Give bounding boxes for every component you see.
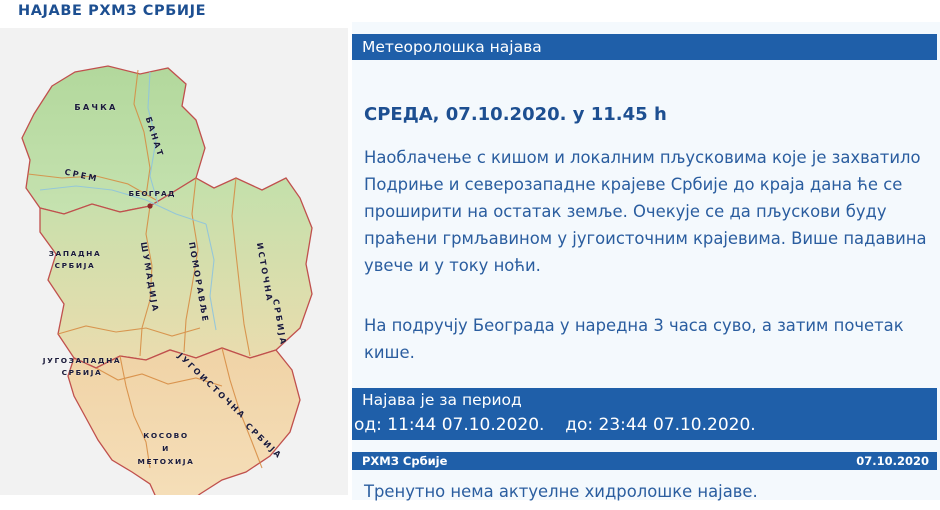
page-title: НАЈАВЕ РХМЗ СРБИЈЕ [18,3,206,19]
map-label-4: ЗАПАДНА [49,249,102,258]
period-from-value: 11:44 07.10.2020. [387,415,544,435]
period-to-label: до: [565,415,593,435]
map-label-14: КОСОВО [143,431,189,440]
map-label-10: ЈУГОЗАПАДНА [42,356,121,365]
meteo-announcement-header: Метеоролошка најава [352,34,937,60]
announcement-panel: Метеоролошка најава СРЕДА, 07.10.2020. у… [352,22,940,500]
map-label-11: СРБИЈА [62,368,103,377]
serbia-map-image[interactable]: БАЧКАБАНАТСРЕМБЕОГРАДЗАПАДНАСРБИЈАШУМАДИ… [0,28,348,495]
period-from-label: од: [354,415,382,435]
period-to-value: 23:44 07.10.2020. [599,415,756,435]
forecast-paragraph-2: На подручју Београда у наредна 3 часа су… [364,312,931,366]
validity-period-block: Најава је за период од: 11:44 07.10.2020… [352,388,937,440]
announcement-issued-datetime: СРЕДА, 07.10.2020. у 11.45 h [364,104,667,125]
validity-period-title: Најава је за период [352,388,937,413]
map-region-south [68,348,300,495]
serbia-map-panel[interactable]: БАЧКАБАНАТСРЕМБЕОГРАДЗАПАДНАСРБИЈАШУМАДИ… [0,28,348,495]
map-label-5: СРБИЈА [55,261,96,270]
map-capital-marker [147,203,152,208]
hydro-source-label: РХМЗ Србије [362,452,447,470]
hydro-source-bar: РХМЗ Србије 07.10.2020 [352,452,937,470]
map-label-3: БЕОГРАД [128,189,175,198]
hydro-date-label: 07.10.2020 [856,452,929,470]
hydro-announcement-message: Тренутно нема актуелне хидролошке најаве… [364,480,924,504]
map-label-16: МЕТОХИЈА [138,457,195,466]
validity-period-range: од: 11:44 07.10.2020. до: 23:44 07.10.20… [352,413,937,437]
map-label-0: БАЧКА [74,102,117,112]
forecast-paragraph-1: Наоблачење с кишом и локалним пљусковима… [364,144,931,279]
map-label-15: И [162,444,170,453]
